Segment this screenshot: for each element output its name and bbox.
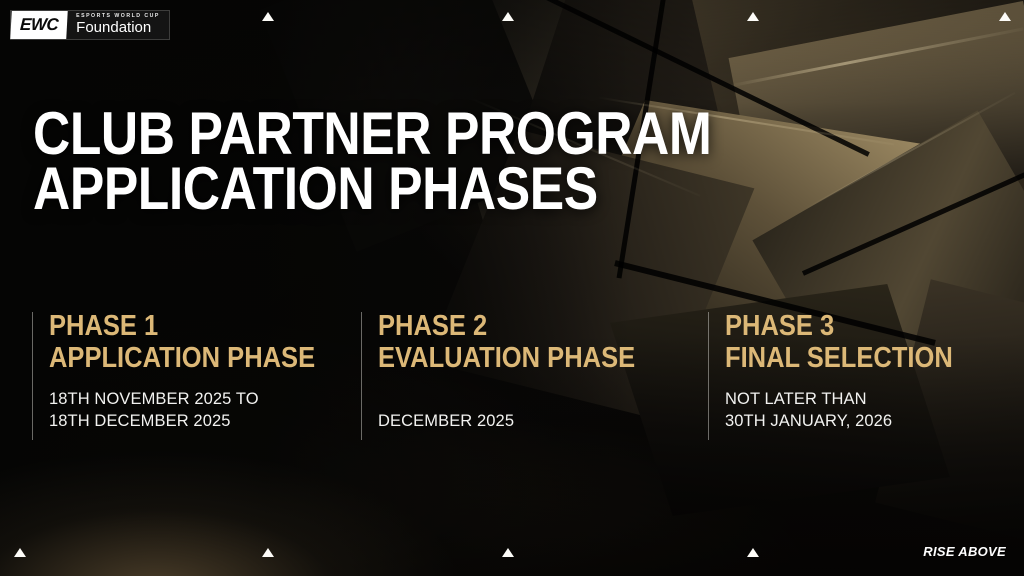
phase-column-2: PHASE 2 EVALUATION PHASE DECEMBER 2025 (361, 312, 681, 440)
ewc-logo-mark: EWC (10, 11, 68, 39)
phase-3-name: FINAL SELECTION (725, 344, 974, 374)
triangle-marker-icon (262, 548, 274, 557)
logo-wordmark-block: ESPORTS WORLD CUP Foundation (67, 11, 169, 39)
page-title: CLUB PARTNER PROGRAM APPLICATION PHASES (33, 106, 711, 216)
phase-3-dates: NOT LATER THAN 30TH JANUARY, 2026 (725, 389, 1008, 433)
phase-1-name: APPLICATION PHASE (49, 344, 298, 374)
phase-1-date-line-2: 18TH DECEMBER 2025 (49, 411, 332, 433)
triangle-marker-icon (262, 12, 274, 21)
ewc-foundation-logo: EWC ESPORTS WORLD CUP Foundation (10, 10, 170, 40)
phase-3-date-line-2: 30TH JANUARY, 2026 (725, 411, 1008, 433)
phase-2-number: PHASE 2 (378, 312, 645, 342)
phase-columns: PHASE 1 APPLICATION PHASE 18TH NOVEMBER … (0, 312, 1024, 462)
phase-1-number: PHASE 1 (49, 312, 298, 342)
triangle-marker-icon (999, 12, 1011, 21)
phase-2-name: EVALUATION PHASE (378, 344, 645, 374)
phase-1-date-line-1: 18TH NOVEMBER 2025 TO (49, 389, 332, 411)
phase-column-3: PHASE 3 FINAL SELECTION NOT LATER THAN 3… (708, 312, 1008, 440)
triangle-marker-icon (502, 12, 514, 21)
phase-3-date-line-1: NOT LATER THAN (725, 389, 1008, 411)
page-title-line-2: APPLICATION PHASES (33, 161, 711, 216)
phase-2-date-line-1: DECEMBER 2025 (378, 411, 681, 433)
background-artwork (0, 0, 1024, 576)
triangle-marker-icon (502, 548, 514, 557)
phase-2-dates: DECEMBER 2025 (378, 411, 681, 433)
triangle-marker-icon (14, 548, 26, 557)
tagline: RISE ABOVE (923, 544, 1006, 559)
slide-root: EWC ESPORTS WORLD CUP Foundation CLUB PA… (0, 0, 1024, 576)
phase-1-dates: 18TH NOVEMBER 2025 TO 18TH DECEMBER 2025 (49, 389, 332, 433)
phase-column-1: PHASE 1 APPLICATION PHASE 18TH NOVEMBER … (32, 312, 332, 440)
page-title-line-1: CLUB PARTNER PROGRAM (33, 106, 711, 161)
logo-foundation-text: Foundation (76, 20, 160, 35)
triangle-marker-icon (747, 12, 759, 21)
phase-3-number: PHASE 3 (725, 312, 974, 342)
triangle-marker-icon (747, 548, 759, 557)
